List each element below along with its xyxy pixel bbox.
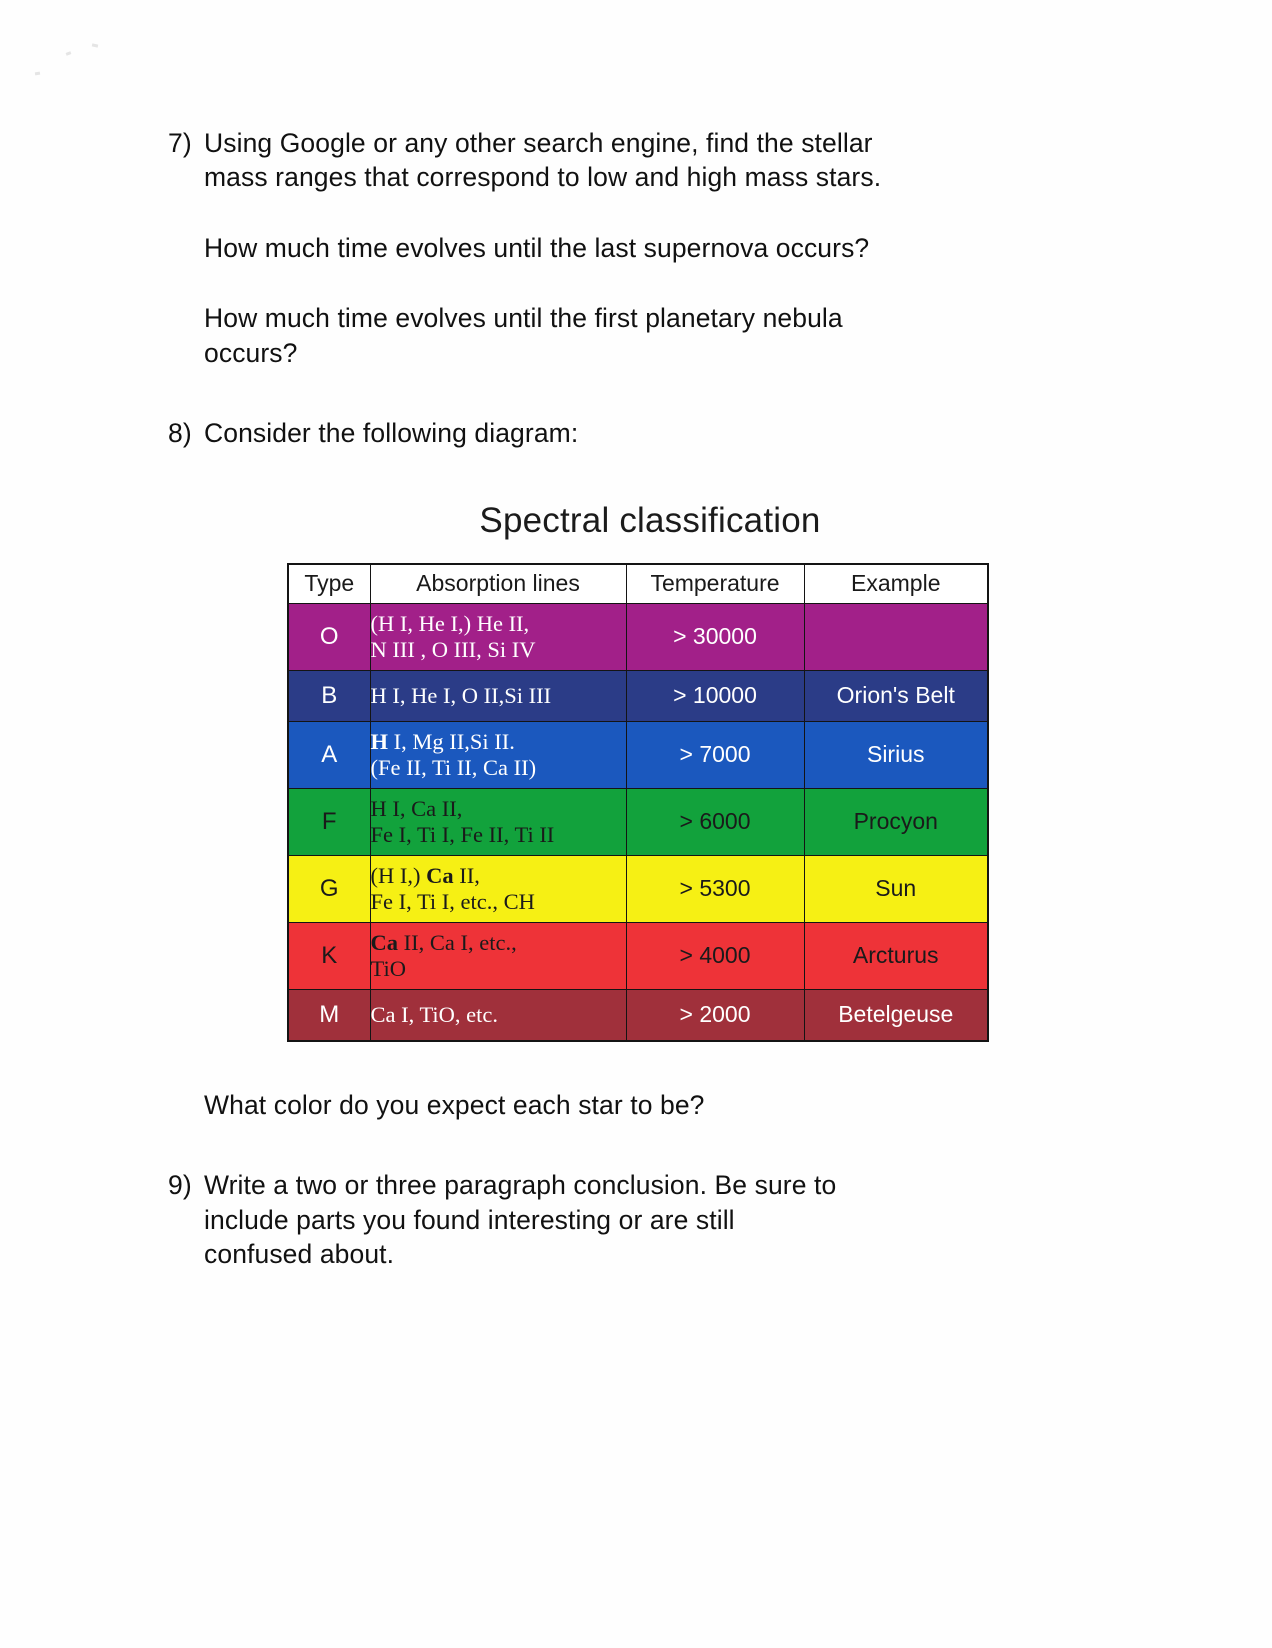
column-header-type: Type [288, 564, 370, 604]
spacer [168, 1122, 1108, 1168]
document-content: 7) Using Google or any other search engi… [168, 126, 1108, 1271]
cell-absorption-lines: H I, Mg II,Si II.(Fe II, Ti II, Ca II) [370, 721, 626, 788]
cell-type: B [288, 670, 370, 721]
cell-example: Betelgeuse [804, 989, 988, 1041]
cell-type: F [288, 788, 370, 855]
cell-example: Sirius [804, 721, 988, 788]
scan-artifact-icon [66, 51, 72, 56]
cell-absorption-lines: H I, Ca II,Fe I, Ti I, Fe II, Ti II [370, 788, 626, 855]
table-row: MCa I, TiO, etc.> 2000Betelgeuse [288, 989, 988, 1041]
cell-temperature: > 6000 [626, 788, 804, 855]
question-7-body: Using Google or any other search engine,… [204, 126, 1108, 195]
cell-temperature: > 4000 [626, 922, 804, 989]
question-9-body: Write a two or three paragraph conclusio… [204, 1168, 1108, 1271]
question-9-line-2: include parts you found interesting or a… [204, 1203, 1108, 1237]
cell-type: O [288, 603, 370, 670]
cell-absorption-lines: Ca II, Ca I, etc.,TiO [370, 922, 626, 989]
question-7-followup-1: How much time evolves until the last sup… [204, 231, 1108, 265]
question-8-followup: What color do you expect each star to be… [204, 1088, 1108, 1122]
cell-type: A [288, 721, 370, 788]
cell-example: Procyon [804, 788, 988, 855]
scan-artifact-icon [92, 43, 98, 47]
cell-absorption-lines: (H I, He I,) He II,N III , O III, Si IV [370, 603, 626, 670]
column-header-example: Example [804, 564, 988, 604]
table-wrapper: Type Absorption lines Temperature Exampl… [168, 563, 1108, 1042]
table-header-row: Type Absorption lines Temperature Exampl… [288, 564, 988, 604]
cell-example: Sun [804, 855, 988, 922]
column-header-temperature: Temperature [626, 564, 804, 604]
question-9-number: 9) [168, 1168, 204, 1202]
cell-example: Orion's Belt [804, 670, 988, 721]
question-7-followup-2-line-2: occurs? [204, 336, 1108, 370]
table-row: O(H I, He I,) He II,N III , O III, Si IV… [288, 603, 988, 670]
question-7-number: 7) [168, 126, 204, 160]
cell-temperature: > 7000 [626, 721, 804, 788]
question-7-line-2: mass ranges that correspond to low and h… [204, 160, 1108, 194]
question-7-followup-2: How much time evolves until the first pl… [204, 301, 1108, 370]
cell-type: K [288, 922, 370, 989]
question-8-number: 8) [168, 416, 204, 450]
question-7: 7) Using Google or any other search engi… [168, 126, 1108, 195]
question-8-text: Consider the following diagram: [204, 416, 1108, 450]
cell-example [804, 603, 988, 670]
spectral-classification-table: Type Absorption lines Temperature Exampl… [287, 563, 989, 1042]
spacer [168, 265, 1108, 301]
cell-absorption-lines: Ca I, TiO, etc. [370, 989, 626, 1041]
table-row: KCa II, Ca I, etc.,TiO> 4000Arcturus [288, 922, 988, 989]
spectral-classification-figure: Spectral classification Type Absorption … [168, 501, 1108, 1042]
cell-example: Arcturus [804, 922, 988, 989]
question-8-body: Consider the following diagram: [204, 416, 1108, 450]
spacer [168, 370, 1108, 416]
table-body: O(H I, He I,) He II,N III , O III, Si IV… [288, 603, 988, 1041]
spacer [168, 1042, 1108, 1088]
cell-absorption-lines: H I, He I, O II,Si III [370, 670, 626, 721]
question-8: 8) Consider the following diagram: [168, 416, 1108, 450]
question-9-line-1: Write a two or three paragraph conclusio… [204, 1168, 1108, 1202]
question-9-line-3: confused about. [204, 1237, 1108, 1271]
cell-type: G [288, 855, 370, 922]
table-row: G(H I,) Ca II,Fe I, Ti I, etc., CH> 5300… [288, 855, 988, 922]
question-9: 9) Write a two or three paragraph conclu… [168, 1168, 1108, 1271]
question-7-line-1: Using Google or any other search engine,… [204, 126, 1108, 160]
cell-temperature: > 2000 [626, 989, 804, 1041]
question-7-followup-2-line-1: How much time evolves until the first pl… [204, 301, 1108, 335]
scan-artifact-icon [35, 72, 40, 76]
figure-title: Spectral classification [192, 501, 1108, 541]
column-header-absorption: Absorption lines [370, 564, 626, 604]
cell-type: M [288, 989, 370, 1041]
table-row: FH I, Ca II,Fe I, Ti I, Fe II, Ti II> 60… [288, 788, 988, 855]
spacer [168, 195, 1108, 231]
cell-temperature: > 10000 [626, 670, 804, 721]
table-row: BH I, He I, O II,Si III> 10000Orion's Be… [288, 670, 988, 721]
table-row: AH I, Mg II,Si II.(Fe II, Ti II, Ca II)>… [288, 721, 988, 788]
cell-temperature: > 5300 [626, 855, 804, 922]
document-page: 7) Using Google or any other search engi… [0, 0, 1272, 1648]
cell-temperature: > 30000 [626, 603, 804, 670]
cell-absorption-lines: (H I,) Ca II,Fe I, Ti I, etc., CH [370, 855, 626, 922]
